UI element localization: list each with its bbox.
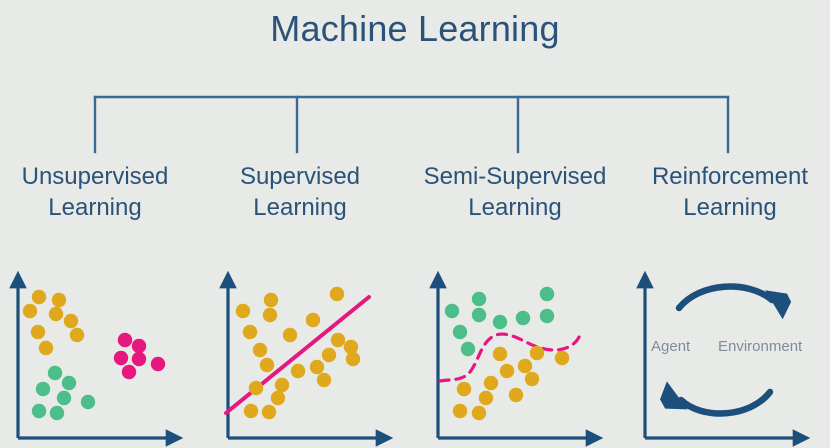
branch-label-reinforcement: Reinforcement Learning	[630, 162, 830, 223]
branch-label-line1: Supervised	[205, 162, 395, 193]
unsupervised-plot	[18, 276, 178, 438]
branch-label-line1: Semi-Supervised	[415, 162, 615, 193]
cluster-magenta	[114, 333, 165, 379]
reinforcement-plot	[645, 276, 805, 438]
diagram-canvas	[0, 0, 830, 448]
labeled-green-points	[445, 287, 554, 356]
page-title: Machine Learning	[0, 8, 830, 49]
cycle-arrow-top	[679, 287, 793, 321]
branch-label-line2: Learning	[0, 193, 190, 224]
cycle-arrow-bottom	[658, 381, 770, 414]
branch-label-supervised: Supervised Learning	[205, 162, 395, 223]
branch-label-unsupervised: Unsupervised Learning	[0, 162, 190, 223]
branch-label-line2: Learning	[205, 193, 395, 224]
cluster-gold	[23, 290, 84, 355]
branch-label-line1: Unsupervised	[0, 162, 190, 193]
unlabeled-gold-points	[453, 346, 569, 420]
supervised-plot	[226, 276, 388, 438]
branch-label-line1: Reinforcement	[630, 162, 830, 193]
branch-label-line2: Learning	[415, 193, 615, 224]
branch-label-line2: Learning	[630, 193, 830, 224]
cluster-green	[32, 366, 95, 420]
agent-label: Agent	[651, 338, 690, 355]
environment-label: Environment	[718, 338, 802, 355]
semi-supervised-plot	[438, 276, 598, 438]
connector-bracket	[95, 97, 728, 152]
branch-label-semi-supervised: Semi-Supervised Learning	[415, 162, 615, 223]
